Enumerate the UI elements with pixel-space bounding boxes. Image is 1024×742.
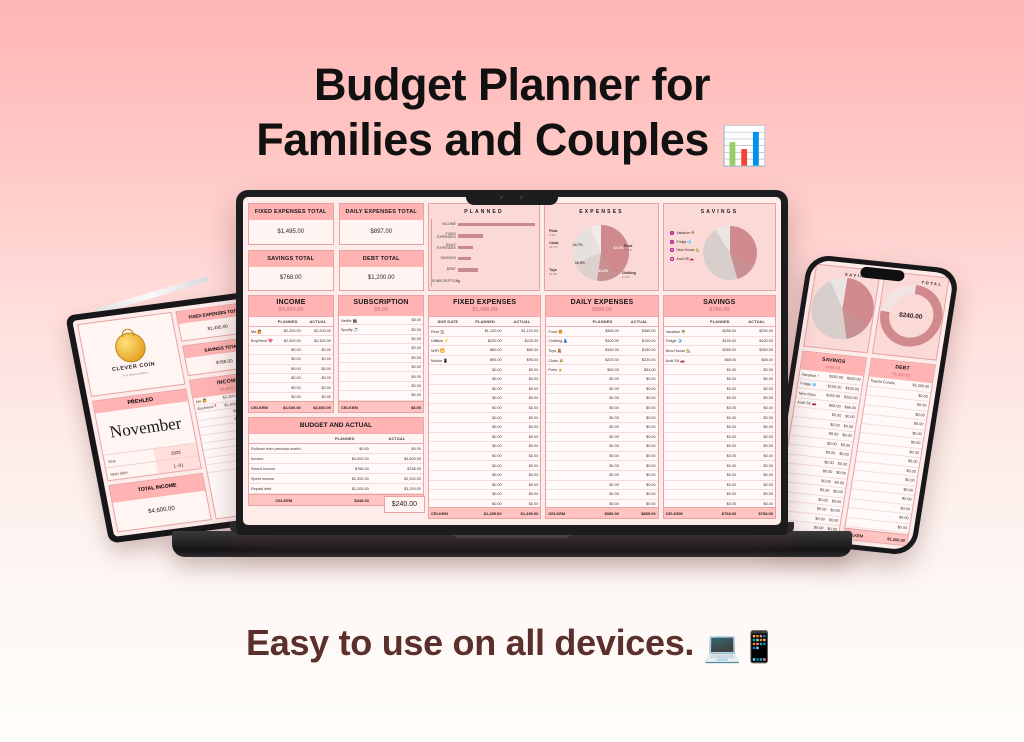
daily-expenses-title: DAILY EXPENSES	[546, 296, 657, 307]
cell-label: Clothing 👗	[546, 338, 584, 343]
cell-value: $0.00	[621, 492, 658, 496]
savings-pie-panel: SAVINGS Vacation 🌴Fridge 🧊New House 🏡Aud…	[663, 203, 776, 291]
table-row[interactable]: $0.00$0.00	[429, 413, 540, 423]
table-row[interactable]: $0.00$0.00	[546, 394, 657, 404]
bar-row: SUBSCRIPTION	[458, 277, 535, 285]
cell-value: $68.00	[816, 402, 843, 409]
cell-value: $0.00	[467, 387, 504, 391]
cell-value: $0.00	[584, 406, 621, 410]
table-row[interactable]: Clothing 👗$100.00$100.00	[546, 337, 657, 347]
card-value: $768.00	[249, 267, 333, 291]
cell-label: New House 🏡	[796, 390, 816, 397]
cell-value: $220.00	[584, 358, 621, 362]
cell-value: $0.00	[738, 387, 775, 391]
cell-value: $768.00	[319, 467, 371, 471]
legend-label: Fridge 🧊	[677, 240, 692, 244]
cell-value: $0.00	[738, 444, 775, 448]
fixed-expenses-title: FIXED EXPENSES	[429, 296, 540, 307]
bar-fill	[458, 223, 535, 227]
cell-value: $0.00	[902, 401, 929, 408]
table-row[interactable]: $0.00$0.00	[664, 471, 775, 481]
page-title: Budget Planner for Families and Couples …	[0, 58, 1024, 170]
cell-value: $365.00	[621, 329, 658, 333]
table-row[interactable]: $0.00	[339, 363, 423, 372]
cell-value: $0.00	[467, 454, 504, 458]
col-header: ACTUAL	[303, 317, 333, 326]
cell-value: $0.00	[584, 502, 621, 506]
cell-label	[206, 459, 227, 462]
cell-value: $0.00	[303, 376, 333, 380]
daily-expenses-table[interactable]: DAILY EXPENSES $889.00 PLANNED ACTUAL Fo…	[545, 295, 658, 519]
cell-value: $0.00	[467, 502, 504, 506]
table-row[interactable]: $0.00$0.00	[546, 500, 657, 507]
table-row[interactable]: $0.00$0.00	[429, 500, 540, 507]
legend-label: New House 🏡	[677, 248, 700, 252]
card-fixed-expenses-total: FIXED EXPENSES TOTAL $1,495.00	[248, 203, 334, 245]
cell-value: $0.00	[303, 386, 333, 390]
cell-value: $0.00	[386, 328, 423, 332]
cell-label	[848, 512, 884, 516]
cell-value: $0.00	[803, 496, 830, 503]
income-table[interactable]: INCOME $4,600.00 PLANNED ACTUAL Me 🙋$2,2…	[248, 295, 334, 413]
cell-label: Pubs 🍺	[546, 367, 584, 372]
table-row[interactable]: WIFI 📶$60.00$60.00	[429, 346, 540, 356]
cell-value: $0.00	[584, 444, 621, 448]
total-donut-value: $240.00	[885, 292, 936, 340]
cell-value: $0.00	[621, 454, 658, 458]
table-row[interactable]: $0.00$0.00	[546, 452, 657, 462]
table-row[interactable]: Boyfriend 💖$2,400.00$2,400.00	[249, 336, 333, 345]
cell-value: $0.00	[738, 416, 775, 420]
col-header	[546, 317, 584, 326]
cell-value: $0.00	[504, 425, 541, 429]
table-row[interactable]: $0.00	[339, 335, 423, 344]
laptop-icon: 💻	[704, 631, 741, 664]
footer-planned: $768.00	[702, 511, 739, 516]
table-row[interactable]: $0.00$0.00	[249, 346, 333, 355]
cell-value: $0.00	[504, 502, 541, 506]
cell-value: $0.00	[386, 384, 423, 388]
budget-spreadsheet: FIXED EXPENSES TOTAL $1,495.00 DAILY EXP…	[243, 197, 781, 525]
cell-value: $0.00	[504, 377, 541, 381]
cell-value: $1,120.00	[504, 329, 541, 333]
cell-value: $4,600.00	[371, 457, 423, 461]
bar-row: DAILY EXPENSES	[458, 243, 535, 251]
table-row[interactable]: $0.00$0.00	[664, 413, 775, 423]
savings-rows: Vacation 🌴$250.00$250.00Fridge 🧊$100.00$…	[664, 327, 775, 507]
savings-pie-chart	[806, 275, 877, 343]
cell-label	[207, 466, 228, 469]
table-row[interactable]: $0.00$0.00	[429, 442, 540, 452]
table-row[interactable]: $0.00$0.00	[429, 452, 540, 462]
brand-tagline: Your finance partner	[122, 370, 148, 377]
cell-value: $0.00	[386, 375, 423, 379]
cell-value: $0.00	[504, 435, 541, 439]
cell-value: $0.00	[702, 473, 739, 477]
bar-row: DEBT	[458, 266, 535, 274]
cell-label: Audi S8 🚗	[664, 358, 702, 363]
phone-device: SAVINGS TOTAL $240.00	[763, 254, 960, 556]
table-row[interactable]: $0.00$0.00	[249, 393, 333, 401]
table-row[interactable]: $0.00$0.00	[546, 471, 657, 481]
expenses-pie-panel: EXPENSES Food41.1%Clothing11.2%Toys16.9%…	[544, 203, 659, 291]
table-row[interactable]: $0.00	[339, 354, 423, 363]
bar-row: INCOME	[458, 221, 535, 229]
savings-footer: CELKEM $768.00 $768.00	[664, 507, 775, 518]
footer-label: CELKEM	[249, 405, 273, 410]
cell-value: $250.00	[818, 374, 845, 381]
pie-slice-percent: 41.1%	[613, 246, 623, 250]
bar-row: SAVINGS	[458, 255, 535, 263]
cell-value: $0.00	[800, 515, 827, 522]
cell-value: $0.00	[738, 502, 775, 506]
cell-value: $95.00	[504, 358, 541, 362]
footer-text: Easy to use on all devices.	[246, 622, 694, 663]
cell-label: Fridge 🧊	[664, 338, 702, 343]
table-row[interactable]: $0.00$0.00	[664, 490, 775, 500]
cell-value: $0.00	[621, 444, 658, 448]
table-row[interactable]: $0.00$0.00	[429, 385, 540, 395]
table-row[interactable]: $0.00$0.00	[546, 490, 657, 500]
cell-value: $54.00	[584, 368, 621, 372]
cell-value: $60.00	[504, 348, 541, 352]
table-row[interactable]: $0.00$0.00	[429, 481, 540, 491]
cell-value: $0.00	[584, 377, 621, 381]
overview-panel: PŘEHLED November Year 2025 Start date 1.…	[92, 388, 202, 481]
legend-dot-icon	[670, 257, 674, 261]
table-row[interactable]: $0.00$0.00	[664, 404, 775, 414]
table-row[interactable]: $0.00$0.00	[664, 394, 775, 404]
cell-value: $0.00	[702, 416, 739, 420]
table-row[interactable]: Vacation 🌴$250.00$250.00	[664, 327, 775, 337]
cell-value: $0.00	[467, 444, 504, 448]
cell-value: $0.00	[467, 492, 504, 496]
cell-label: Toys 🧸	[546, 348, 584, 353]
cell-value: $0.00	[896, 439, 923, 446]
cell-value: $0.00	[887, 495, 914, 502]
cell-value: $150.00	[584, 348, 621, 352]
cell-value: $2,400.00	[273, 339, 303, 343]
subscription-table-title: SUBSCRIPTION	[339, 296, 423, 307]
table-row[interactable]: Pubs 🍺$54.00$54.00	[546, 365, 657, 375]
table-row[interactable]: Toys 🧸$150.00$150.00	[546, 346, 657, 356]
pie-slice-percent: 11.2%	[598, 269, 608, 273]
cell-value: $0.00	[467, 377, 504, 381]
table-row[interactable]: $0.00	[339, 344, 423, 353]
card-title: DAILY EXPENSES TOTAL	[340, 204, 424, 220]
table-row[interactable]: $0.00$0.00	[664, 500, 775, 507]
cell-value: $0.00	[504, 406, 541, 410]
table-row[interactable]: $0.00$0.00	[664, 442, 775, 452]
cell-label	[197, 414, 218, 417]
table-row[interactable]: Fridge 🧊$100.00$100.00	[664, 337, 775, 347]
cell-label: Clubs 🎉	[546, 358, 584, 363]
cell-value: $250.00	[702, 329, 739, 333]
laptop-lid: FIXED EXPENSES TOTAL $1,495.00 DAILY EXP…	[236, 190, 788, 535]
cell-value: $0.00	[584, 473, 621, 477]
cell-value: $0.00	[621, 396, 658, 400]
phone-screen: SAVINGS TOTAL $240.00	[769, 259, 954, 550]
col-header	[249, 317, 273, 326]
table-row[interactable]: $0.00$0.00	[429, 433, 540, 443]
cell-value: $1,200.00	[319, 487, 371, 491]
table-row[interactable]: $0.00$0.00	[664, 365, 775, 375]
brand-logo: CLEVER COIN Your finance partner	[77, 312, 186, 397]
income-table-title: INCOME	[249, 296, 333, 307]
table-row[interactable]: $0.00$0.00	[546, 461, 657, 471]
table-row[interactable]: $0.00$0.00	[429, 394, 540, 404]
cell-value: $0.00	[882, 523, 909, 530]
savings-pie-legend: Vacation 🌴Fridge 🧊New House 🏡Audi S8 🚗	[670, 231, 700, 261]
budget-and-actual-table[interactable]: BUDGET AND ACTUAL PLANNED ACTUAL Rollove…	[248, 417, 424, 506]
card-debt-total: DEBT TOTAL $1,200.00	[339, 250, 425, 292]
cell-value: $0.00	[467, 464, 504, 468]
cell-value: $0.00	[621, 406, 658, 410]
table-row[interactable]: $0.00$0.00	[546, 413, 657, 423]
table-row[interactable]: $0.00$0.00	[664, 375, 775, 385]
cell-label: Food 🍔	[546, 329, 584, 334]
cell-value: $0.00	[817, 412, 844, 419]
fixed-expenses-table[interactable]: FIXED EXPENSES $1,495.00 DUE DATE PLANNE…	[428, 295, 541, 519]
daily-expenses-columns: PLANNED ACTUAL	[546, 316, 657, 327]
income-table-subtitle: $4,600.00	[249, 307, 333, 316]
savings-columns: PLANNED ACTUAL	[664, 316, 775, 327]
cell-value: $220.00	[621, 358, 658, 362]
cell-value: $0.00	[738, 396, 775, 400]
cell-value: $0.00	[843, 414, 857, 419]
cell-value: $220.00	[467, 339, 504, 343]
cell-value: $150.00	[621, 348, 658, 352]
cell-label	[867, 390, 903, 394]
cell-label	[858, 447, 894, 451]
cell-value: $0.00	[303, 367, 333, 371]
legend-item: Vacation 🌴	[670, 231, 700, 235]
table-row[interactable]: $0.00$0.00	[546, 433, 657, 443]
table-row[interactable]: $0.00	[339, 391, 423, 400]
cell-label: Saved income	[249, 467, 319, 471]
cell-label	[852, 484, 888, 488]
cell-label	[849, 503, 885, 507]
cell-value: $0.00	[621, 464, 658, 468]
bar-fill	[458, 234, 483, 238]
laptop-screen: FIXED EXPENSES TOTAL $1,495.00 DAILY EXP…	[243, 197, 781, 525]
cell-value: $0.00	[885, 505, 912, 512]
cell-value: $0.00	[894, 448, 921, 455]
cell-value: $250.00	[845, 376, 863, 382]
table-row[interactable]: $0.00$0.00	[546, 423, 657, 433]
cell-value: $0.00	[371, 447, 423, 451]
table-row[interactable]: $0.00$0.00	[429, 490, 540, 500]
cell-value: $2,400.00	[303, 339, 333, 343]
cell-label	[860, 437, 896, 441]
cell-label	[785, 467, 808, 469]
cell-label: New House 🏡	[664, 348, 702, 353]
subscription-table[interactable]: SUBSCRIPTION $8.00 Netflix 🎬$8.00Spotify…	[338, 295, 424, 413]
col-header: PLANNED	[702, 317, 739, 326]
table-row[interactable]: $0.00$0.00	[664, 423, 775, 433]
subscription-table-footer: CELKEM $8.00	[339, 401, 423, 412]
cell-value: $0.00	[621, 425, 658, 429]
table-row[interactable]: $0.00$0.00	[546, 404, 657, 414]
table-row[interactable]: $0.00$0.00	[249, 383, 333, 392]
cell-label	[788, 449, 811, 451]
cell-value: $100.00	[738, 339, 775, 343]
budget-actual-title: BUDGET AND ACTUAL	[249, 418, 423, 433]
footer-actual: $768.00	[738, 511, 775, 516]
cell-value: $100.00	[843, 386, 861, 392]
card-value: $1,200.00	[340, 267, 424, 291]
cell-value: $68.00	[738, 358, 775, 362]
cell-label	[198, 421, 219, 424]
table-row[interactable]: $0.00$0.00	[546, 442, 657, 452]
cell-value: $0.00	[504, 454, 541, 458]
cell-value: $0.00	[702, 483, 739, 487]
table-row[interactable]: Food 🍔$365.00$365.00	[546, 327, 657, 337]
table-row[interactable]: $0.00$0.00	[546, 385, 657, 395]
bar-chart-icon: 📊	[721, 126, 768, 168]
fixed-expenses-subtitle: $1,495.00	[429, 307, 540, 316]
cell-label	[791, 430, 814, 432]
cell-value: $0.00	[702, 492, 739, 496]
savings-table[interactable]: SAVINGS $768.00 PLANNED ACTUAL Vacation …	[663, 295, 776, 519]
table-row[interactable]: Repaid debt$1,200.00$1,200.00	[249, 484, 423, 494]
cell-value: $0.00	[467, 473, 504, 477]
col-header: ACTUAL	[371, 434, 423, 443]
planned-bar-chart-panel: PLANNED INCOMEFIXED EXPENSESDAILY EXPENS…	[428, 203, 540, 291]
legend-item: New House 🏡	[670, 248, 700, 252]
cell-value: $0.00	[504, 464, 541, 468]
cell-label: Vacation 🌴	[799, 371, 819, 378]
table-row[interactable]: Rent 🏠$1,120.00$1,120.00	[429, 327, 540, 337]
cell-value: $100.00	[817, 383, 844, 390]
pie-label: Pubs6.1%	[549, 230, 557, 237]
cell-value: $220.00	[504, 339, 541, 343]
savings-subtitle: $768.00	[664, 307, 775, 316]
cell-value: $0.00	[815, 421, 842, 428]
footer-label: CELKEM	[249, 498, 319, 503]
cell-label	[846, 522, 882, 526]
cell-label: Rollover from previous month	[249, 447, 319, 451]
cell-value: $0.00	[584, 435, 621, 439]
cell-label: Income	[249, 457, 319, 461]
table-row[interactable]: Mobile 📱$95.00$95.00	[429, 356, 540, 366]
cell-value: $0.00	[621, 377, 658, 381]
table-row[interactable]: Spotify 🎵$0.00	[339, 325, 423, 334]
table-row[interactable]: $0.00$0.00	[249, 374, 333, 383]
footer-actual: $1,495.00	[504, 511, 541, 516]
cell-value: $0.00	[504, 473, 541, 477]
legend-item: Audi S8 🚗	[670, 257, 700, 261]
bar-label: SUBSCRIPTION	[432, 280, 456, 283]
cell-label: Vacation 🌴	[664, 329, 702, 334]
table-row[interactable]: Rollover from previous month$0.00$0.00	[249, 444, 423, 454]
cell-value: $0.00	[702, 435, 739, 439]
footer-planned: $4,600.00	[273, 405, 303, 410]
cell-value: $0.00	[621, 416, 658, 420]
savings-chart-title: SAVINGS	[664, 204, 775, 217]
cell-value: $0.00	[890, 477, 917, 484]
cell-value: $0.00	[738, 377, 775, 381]
table-row[interactable]: Saved income$768.00$768.00	[249, 464, 423, 474]
table-row[interactable]: Netflix 🎬$8.00	[339, 316, 423, 325]
fixed-expenses-footer: CELKEM $1,495.00 $1,495.00	[429, 507, 540, 518]
table-row[interactable]: $0.00$0.00	[546, 375, 657, 385]
planned-chart-title: PLANNED	[429, 204, 539, 217]
cell-value: $0.00	[900, 411, 927, 418]
cell-value: $2,200.00	[303, 329, 333, 333]
cell-value: $0.00	[841, 424, 855, 429]
cell-value: $350.00	[815, 392, 842, 399]
cell-label: WIFI 📶	[429, 348, 467, 353]
cell-value: $0.00	[273, 357, 303, 361]
subscription-table-rows: Netflix 🎬$8.00Spotify 🎵$0.00$0.00$0.00$0…	[339, 316, 423, 401]
table-row[interactable]: Income$4,600.00$4,600.00	[249, 454, 423, 464]
cell-value: $0.00	[738, 483, 775, 487]
table-row[interactable]: $0.00$0.00	[664, 481, 775, 491]
table-row[interactable]: $0.00$0.00	[429, 471, 540, 481]
table-row[interactable]: $0.00$0.00	[664, 461, 775, 471]
table-row[interactable]: $0.00	[339, 382, 423, 391]
field-start-date-label: Start date	[107, 465, 158, 476]
cell-value: $0.00	[884, 514, 911, 521]
cell-label	[861, 428, 897, 432]
footer-tagline: Easy to use on all devices. 💻📱	[0, 622, 1024, 665]
cell-value: $0.00	[702, 454, 739, 458]
cell-value: $1,200.00	[905, 383, 932, 390]
table-row[interactable]: $0.00$0.00	[664, 452, 775, 462]
subscription-table-subtitle: $8.00	[339, 307, 423, 316]
pie-label: Clothing11.2%	[622, 272, 636, 279]
table-row[interactable]: Spent income$2,392.00$2,392.00	[249, 474, 423, 484]
table-row[interactable]: Audi S8 🚗$68.00$68.00	[664, 356, 775, 366]
cell-value: $0.00	[702, 444, 739, 448]
table-row[interactable]: Me 🙋$2,200.00$2,200.00	[249, 327, 333, 336]
cell-value: $0.00	[809, 458, 836, 465]
phone-body: SAVINGS TOTAL $240.00	[763, 254, 960, 556]
bar-fill	[458, 280, 460, 284]
cell-value: $0.00	[897, 430, 924, 437]
cell-value: $0.00	[584, 416, 621, 420]
cell-value: $0.00	[504, 416, 541, 420]
table-row[interactable]: $0.00$0.00	[546, 481, 657, 491]
laptop-notch	[466, 190, 558, 205]
table-row[interactable]: $0.00$0.00	[429, 404, 540, 414]
table-row[interactable]: $0.00$0.00	[249, 355, 333, 364]
cell-label: Fridge 🧊	[798, 381, 818, 388]
footer-planned: $889.00	[584, 511, 621, 516]
table-row[interactable]: New House 🏡$350.00$350.00	[664, 346, 775, 356]
cell-value: $1,200.00	[371, 487, 423, 491]
daily-expenses-footer: CELKEM $889.00 $889.00	[546, 507, 657, 518]
table-row[interactable]: Clubs 🎉$220.00$220.00	[546, 356, 657, 366]
card-value: $1,495.00	[249, 220, 333, 244]
table-row[interactable]: $0.00$0.00	[429, 461, 540, 471]
table-row[interactable]: $0.00$0.00	[249, 365, 333, 374]
table-row[interactable]: $0.00	[339, 372, 423, 381]
cell-value: $0.00	[702, 425, 739, 429]
table-row[interactable]: $0.00$0.00	[664, 433, 775, 443]
cell-value: $0.00	[702, 502, 739, 506]
table-row[interactable]: $0.00$0.00	[429, 365, 540, 375]
table-row[interactable]: $0.00$0.00	[664, 385, 775, 395]
cell-value: $8.00	[386, 318, 423, 322]
table-row[interactable]: $0.00$0.00	[429, 423, 540, 433]
expenses-pie-labels: Food41.1%Clothing11.2%Toys16.9%Clubs24.7…	[547, 219, 654, 287]
cell-label	[794, 411, 817, 413]
table-row[interactable]: Utilities ⚡$220.00$220.00	[429, 337, 540, 347]
cell-label: Utilities ⚡	[429, 338, 467, 343]
table-row[interactable]: $0.00$0.00	[429, 375, 540, 385]
